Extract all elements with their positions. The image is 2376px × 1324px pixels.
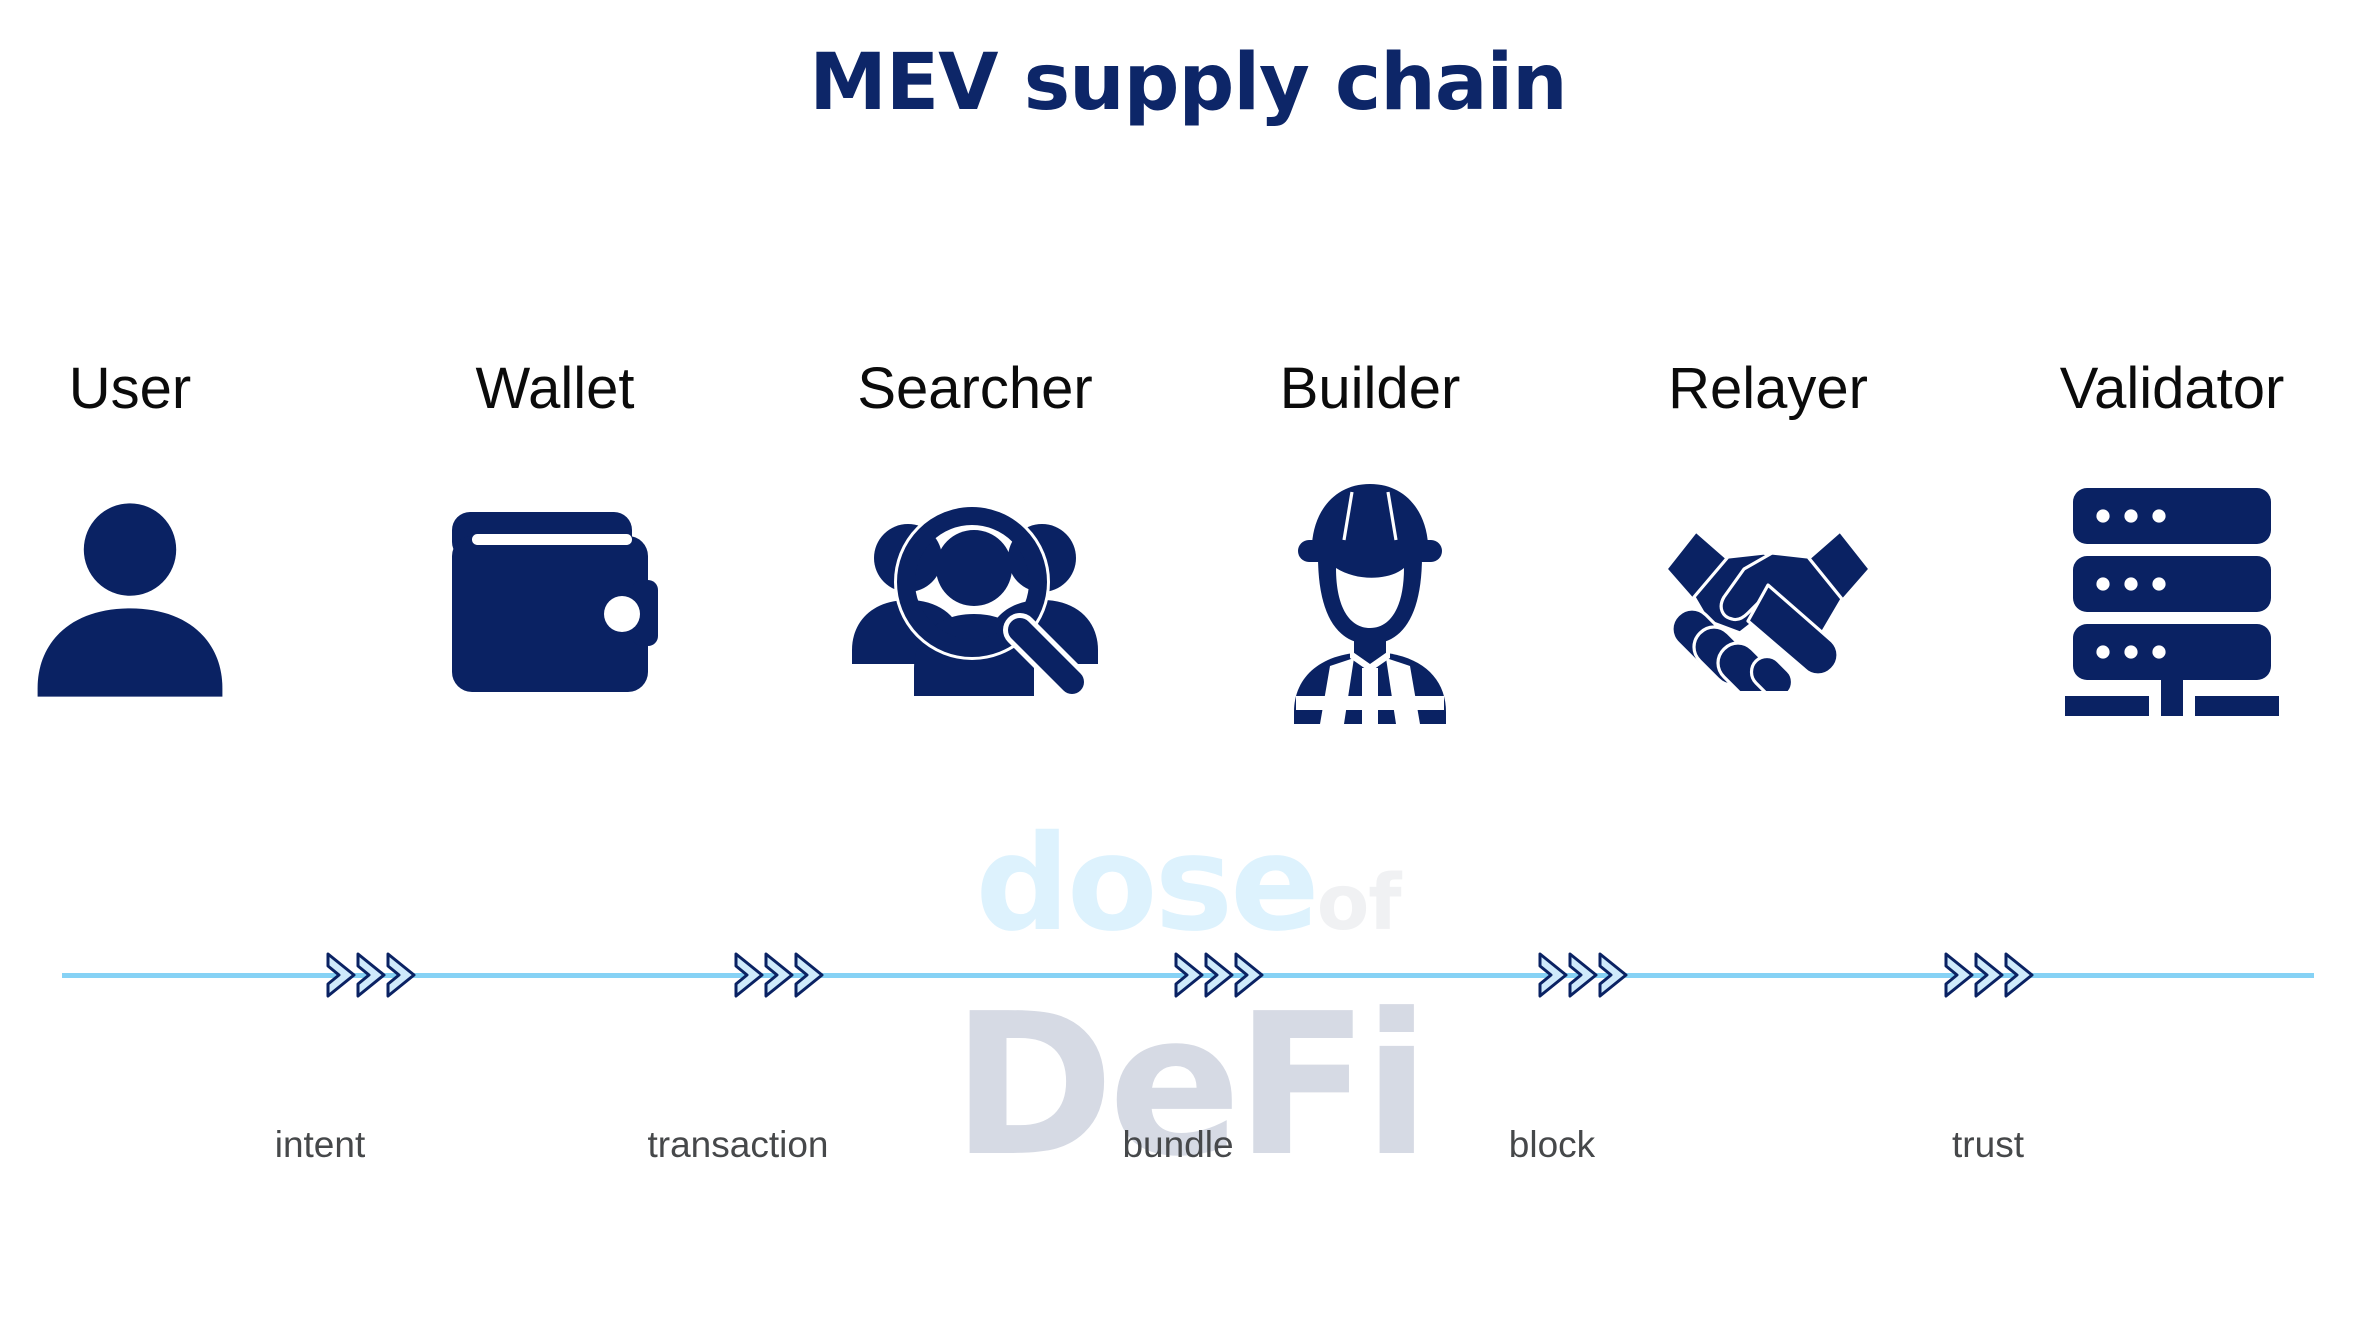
server-rack-icon <box>2022 470 2322 730</box>
watermark-word-dose: dose <box>975 807 1316 961</box>
node-label-validator: Validator <box>2022 360 2322 418</box>
chevrons-right-icon-3 <box>1158 944 1278 1006</box>
handshake-icon <box>1618 470 1918 730</box>
person-icon <box>0 470 280 730</box>
node-label-user: User <box>0 360 280 418</box>
chevrons-right-icon-1 <box>310 944 430 1006</box>
edge-label-intent: intent <box>150 1124 490 1166</box>
edge-label-block: block <box>1382 1124 1722 1166</box>
chain-node-wallet: Wallet <box>405 360 705 418</box>
node-label-builder: Builder <box>1220 360 1520 418</box>
node-label-relayer: Relayer <box>1618 360 1918 418</box>
edge-label-transaction: transaction <box>568 1124 908 1166</box>
chain-node-searcher: Searcher <box>825 360 1125 418</box>
watermark-word-of: of <box>1317 859 1401 948</box>
chevrons-right-icon-4 <box>1522 944 1642 1006</box>
node-label-searcher: Searcher <box>825 360 1125 418</box>
edge-label-trust: trust <box>1818 1124 2158 1166</box>
chain-node-relayer: Relayer <box>1618 360 1918 418</box>
mev-supply-chain-diagram: User intent Wallet <box>0 360 2376 820</box>
node-label-wallet: Wallet <box>405 360 705 418</box>
wallet-icon <box>405 470 705 730</box>
chevrons-right-icon-2 <box>718 944 838 1006</box>
chain-node-user: User <box>0 360 280 418</box>
people-search-icon <box>825 470 1125 730</box>
chain-node-builder: Builder <box>1220 360 1520 418</box>
chevrons-right-icon-5 <box>1928 944 2048 1006</box>
watermark-line-one: doseof <box>0 818 2376 950</box>
construction-worker-icon <box>1220 470 1520 730</box>
chain-node-validator: Validator <box>2022 360 2322 418</box>
edge-label-bundle: bundle <box>1008 1124 1348 1166</box>
page-title: MEV supply chain <box>0 38 2376 128</box>
